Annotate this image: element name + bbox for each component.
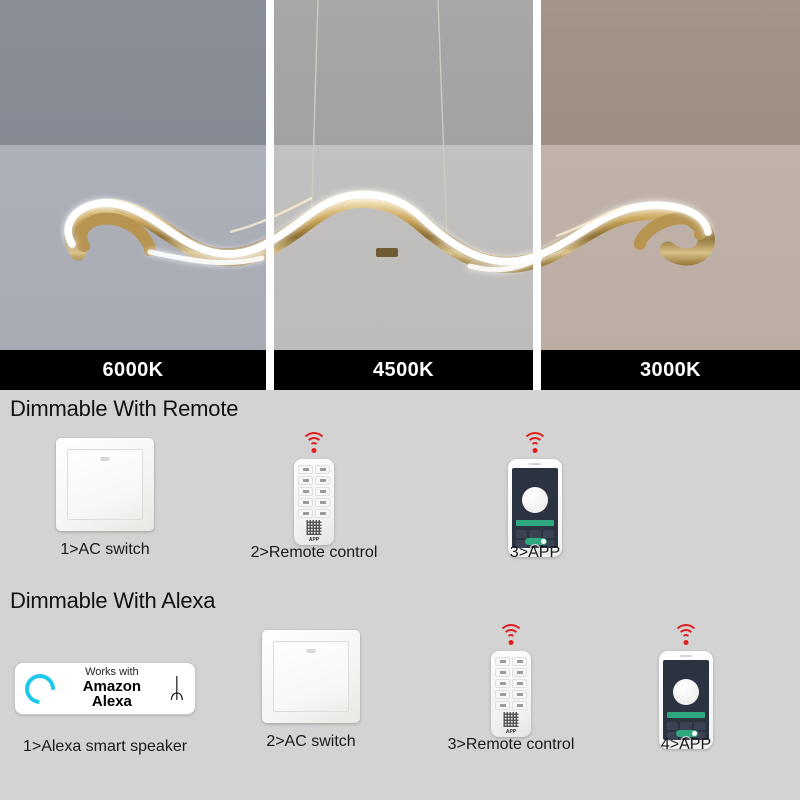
- label-6000k: 6000K: [0, 350, 266, 390]
- phone-earpiece: [680, 655, 692, 657]
- wifi-signal-icon: [299, 432, 329, 454]
- caption-remote-control: 2>Remote control: [251, 544, 378, 562]
- color-temperature-comparison: 6000K 4500K 3000K: [0, 0, 800, 390]
- wifi-signal-icon: [520, 432, 550, 454]
- remote-keypad[interactable]: [298, 465, 330, 518]
- item-ac-switch-alexa[interactable]: 2>AC switch: [262, 630, 360, 723]
- app-control-cell[interactable]: [543, 530, 554, 538]
- caption-ac-switch-alexa: 2>AC switch: [266, 733, 355, 751]
- caption-app-alexa: 4>APP: [661, 736, 711, 754]
- remote-key[interactable]: [495, 701, 510, 710]
- item-remote-control[interactable]: APP 2>Remote control: [294, 432, 334, 545]
- remote-key[interactable]: [495, 679, 510, 688]
- app-screen[interactable]: [663, 660, 709, 740]
- remote-control-icon[interactable]: APP: [294, 459, 334, 545]
- remote-key[interactable]: [315, 509, 330, 518]
- bluetooth-icon: ᛦ: [169, 675, 185, 702]
- remote-control-icon[interactable]: APP: [491, 651, 531, 737]
- caption-alexa-speaker: 1>Alexa smart speaker: [23, 738, 187, 756]
- remote-key[interactable]: [298, 476, 313, 485]
- alexa-badge-icon[interactable]: Works with Amazon Alexa ᛦ: [14, 662, 196, 715]
- remote-key[interactable]: [512, 657, 527, 666]
- remote-key[interactable]: [298, 465, 313, 474]
- label-4500k: 4500K: [274, 350, 533, 390]
- smartphone-app-icon[interactable]: [659, 651, 713, 749]
- item-app-remote[interactable]: 3>APP: [508, 432, 562, 557]
- remote-key[interactable]: [315, 465, 330, 474]
- app-brightness-slider[interactable]: [516, 520, 554, 526]
- dimming-options-section: Dimmable With Remote 1>AC switch: [0, 390, 800, 800]
- item-remote-control-alexa[interactable]: APP 3>Remote control: [491, 624, 531, 737]
- app-control-cell[interactable]: [529, 530, 540, 538]
- remote-key[interactable]: [298, 498, 313, 507]
- remote-key[interactable]: [512, 701, 527, 710]
- amazon-alexa-label: Amazon Alexa: [63, 679, 161, 711]
- label-3000k: 3000K: [541, 350, 800, 390]
- app-brightness-slider[interactable]: [667, 712, 705, 718]
- product-infographic: 6000K 4500K 3000K Dimmable With Remote 1…: [0, 0, 800, 800]
- remote-key[interactable]: [495, 690, 510, 699]
- app-dimmer-dial[interactable]: [522, 487, 548, 513]
- app-control-cell[interactable]: [516, 530, 527, 538]
- wifi-signal-icon: [496, 624, 526, 646]
- qr-code-icon: [504, 712, 519, 727]
- remote-key[interactable]: [315, 498, 330, 507]
- app-control-cell[interactable]: [680, 722, 691, 730]
- app-control-cell[interactable]: [694, 722, 705, 730]
- qr-app-label: APP: [309, 537, 319, 543]
- item-ac-switch-remote[interactable]: 1>AC switch: [56, 438, 154, 531]
- app-screen[interactable]: [512, 468, 558, 548]
- pendant-lamp-product-image: [0, 0, 800, 350]
- section-title-alexa: Dimmable With Alexa: [0, 588, 215, 614]
- wifi-signal-icon: [671, 624, 701, 646]
- qr-code-icon: [307, 520, 322, 535]
- switch-indicator-icon: [307, 649, 316, 653]
- remote-keypad[interactable]: [495, 657, 527, 710]
- remote-key[interactable]: [315, 487, 330, 496]
- remote-key[interactable]: [495, 668, 510, 677]
- item-app-alexa[interactable]: 4>APP: [659, 624, 713, 749]
- qr-app-label: APP: [506, 729, 516, 735]
- panel-divider-1: [266, 0, 274, 390]
- alexa-ring-icon: [19, 667, 61, 709]
- remote-key[interactable]: [512, 679, 527, 688]
- remote-key[interactable]: [512, 668, 527, 677]
- wall-switch-icon[interactable]: [262, 630, 360, 723]
- remote-key[interactable]: [298, 487, 313, 496]
- item-alexa-speaker[interactable]: Works with Amazon Alexa ᛦ 1>Alexa smart …: [14, 662, 196, 715]
- works-with-label: Works with: [63, 667, 161, 679]
- switch-rocker[interactable]: [67, 449, 143, 520]
- section-title-remote: Dimmable With Remote: [0, 396, 238, 422]
- panel-divider-2: [533, 0, 541, 390]
- wall-switch-icon[interactable]: [56, 438, 154, 531]
- switch-rocker[interactable]: [273, 641, 349, 712]
- phone-earpiece: [529, 463, 541, 465]
- remote-key[interactable]: [298, 509, 313, 518]
- caption-remote-control-alexa: 3>Remote control: [448, 736, 575, 754]
- app-control-cell[interactable]: [667, 722, 678, 730]
- caption-app: 3>APP: [510, 544, 560, 562]
- smartphone-app-icon[interactable]: [508, 459, 562, 557]
- caption-ac-switch: 1>AC switch: [60, 541, 149, 559]
- remote-key[interactable]: [495, 657, 510, 666]
- app-dimmer-dial[interactable]: [673, 679, 699, 705]
- switch-indicator-icon: [101, 457, 110, 461]
- remote-key[interactable]: [512, 690, 527, 699]
- remote-key[interactable]: [315, 476, 330, 485]
